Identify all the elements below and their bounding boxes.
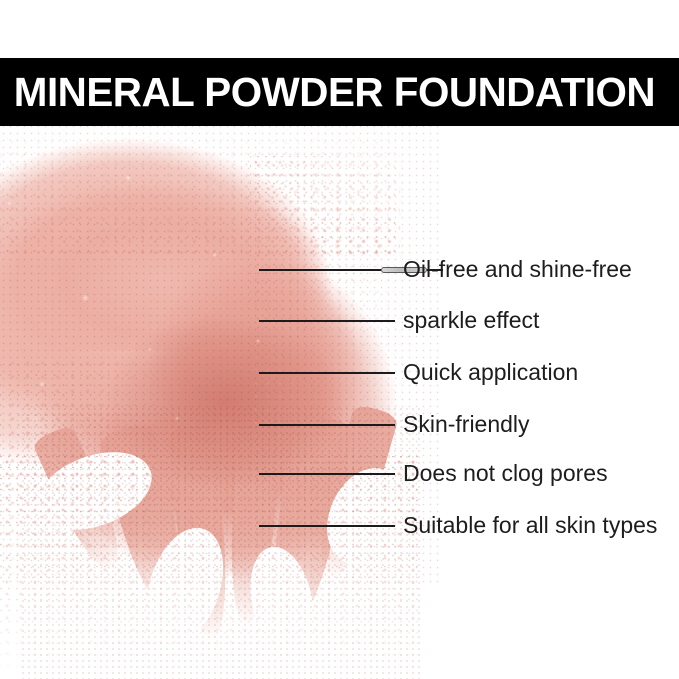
leader-line bbox=[259, 320, 395, 322]
leader-line bbox=[259, 372, 395, 374]
feature-label: Suitable for all skin types bbox=[403, 512, 657, 538]
title-banner: MINERAL POWDER FOUNDATION bbox=[0, 58, 679, 126]
leader-line bbox=[259, 424, 395, 426]
leader-line bbox=[259, 525, 395, 527]
leader-line bbox=[259, 269, 381, 271]
feature-label: Quick application bbox=[403, 359, 578, 385]
leader-line bbox=[259, 473, 395, 475]
feature-label: Skin-friendly bbox=[403, 411, 530, 437]
product-infographic: Oil-free and shine-freesparkle effectQui… bbox=[0, 0, 679, 679]
feature-label: Does not clog pores bbox=[403, 460, 608, 486]
page-title: MINERAL POWDER FOUNDATION bbox=[0, 69, 655, 116]
feature-label: Oil-free and shine-free bbox=[403, 256, 632, 282]
feature-label: sparkle effect bbox=[403, 307, 539, 333]
